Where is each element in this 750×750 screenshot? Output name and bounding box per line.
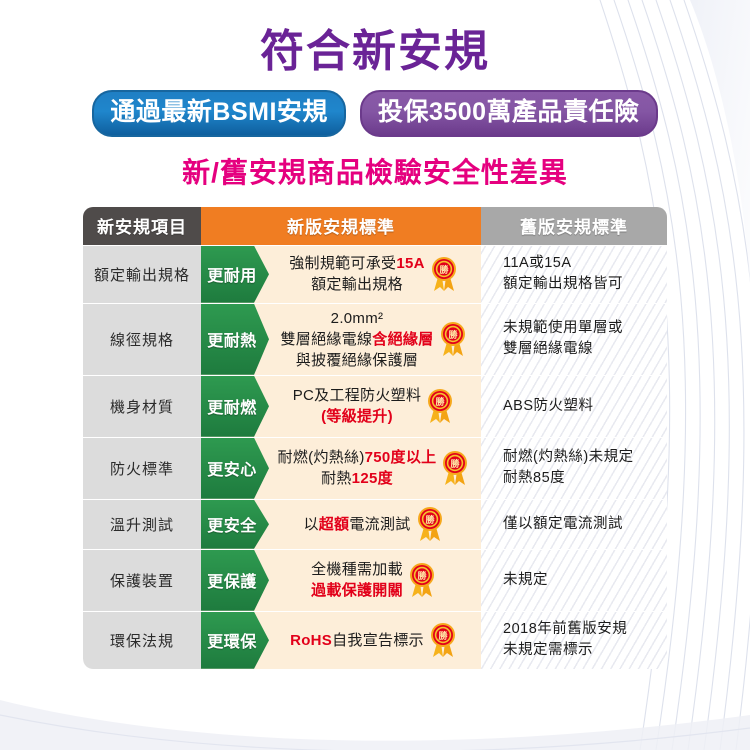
table-row: 溫升測試更安全以超額電流測試 勝 僅以額定電流測試 xyxy=(83,499,667,549)
header-old-standard: 舊版安規標準 xyxy=(481,207,667,245)
row-benefit-tag: 更耐用 xyxy=(201,246,269,303)
row-new-standard: 更安心耐燃(灼熱絲)750度以上耐熱125度 勝 xyxy=(201,438,481,499)
win-rosette-icon: 勝 xyxy=(407,561,437,599)
row-old-standard: 2018年前舊版安規未規定需標示 xyxy=(481,612,667,669)
svg-text:勝: 勝 xyxy=(417,570,427,581)
win-rosette-icon: 勝 xyxy=(429,255,459,293)
win-rosette-icon: 勝 xyxy=(438,320,468,358)
row-old-standard-text: 未規定 xyxy=(503,570,548,591)
table-header-row: 新安規項目 新版安規標準 舊版安規標準 xyxy=(83,207,667,245)
row-old-standard-text: 2018年前舊版安規未規定需標示 xyxy=(503,619,627,661)
row-benefit-tag: 更保護 xyxy=(201,550,269,611)
table-row: 額定輸出規格更耐用強制規範可承受15A額定輸出規格 勝 11A或15A額定輸出規… xyxy=(83,245,667,303)
row-benefit-tag: 更耐燃 xyxy=(201,376,269,437)
row-item-label: 額定輸出規格 xyxy=(83,246,201,303)
row-new-standard-content: 以超額電流測試 勝 xyxy=(269,501,481,547)
svg-text:勝: 勝 xyxy=(439,264,449,275)
row-new-standard-text: RoHS自我宣告標示 xyxy=(290,630,424,651)
row-item-label: 機身材質 xyxy=(83,376,201,437)
row-benefit-tag: 更安心 xyxy=(201,438,269,499)
row-new-standard-content: 2.0mm²雙層絕緣電線含絕緣層與披覆絕緣保護層 勝 xyxy=(269,304,481,375)
row-benefit-tag: 更安全 xyxy=(201,500,269,549)
table-body: 額定輸出規格更耐用強制規範可承受15A額定輸出規格 勝 11A或15A額定輸出規… xyxy=(83,245,667,669)
row-benefit-tag: 更環保 xyxy=(201,612,269,669)
header-item: 新安規項目 xyxy=(83,207,201,245)
row-item-label: 保護裝置 xyxy=(83,550,201,611)
table-row: 防火標準更安心耐燃(灼熱絲)750度以上耐熱125度 勝 耐燃(灼熱絲)未規定耐… xyxy=(83,437,667,499)
row-old-standard-text: 耐燃(灼熱絲)未規定耐熱85度 xyxy=(503,447,634,489)
row-old-standard-text: ABS防火塑料 xyxy=(503,396,594,417)
row-new-standard-content: 全機種需加載過載保護開關 勝 xyxy=(269,555,481,605)
row-new-standard: 更安全以超額電流測試 勝 xyxy=(201,500,481,549)
row-old-standard: ABS防火塑料 xyxy=(481,376,667,437)
row-new-standard-text: 2.0mm²雙層絕緣電線含絕緣層與披覆絕緣保護層 xyxy=(280,308,433,371)
row-new-standard: 更耐熱2.0mm²雙層絕緣電線含絕緣層與披覆絕緣保護層 勝 xyxy=(201,304,481,375)
page-subtitle: 新/舊安規商品檢驗安全性差異 xyxy=(0,151,750,191)
hero-section: 符合新安規 通過最新BSMI安規 投保3500萬產品責任險 新/舊安規商品檢驗安… xyxy=(0,0,750,191)
page-root: 符合新安規 通過最新BSMI安規 投保3500萬產品責任險 新/舊安規商品檢驗安… xyxy=(0,0,750,750)
row-new-standard-text: 耐燃(灼熱絲)750度以上耐熱125度 xyxy=(278,447,437,489)
row-new-standard-content: RoHS自我宣告標示 勝 xyxy=(269,617,481,663)
svg-text:勝: 勝 xyxy=(436,396,446,407)
row-old-standard: 未規定 xyxy=(481,550,667,611)
header-new-standard: 新版安規標準 xyxy=(201,207,481,245)
win-rosette-icon: 勝 xyxy=(425,387,455,425)
row-new-standard-text: PC及工程防火塑料(等級提升) xyxy=(293,385,422,427)
table-row: 線徑規格更耐熱2.0mm²雙層絕緣電線含絕緣層與披覆絕緣保護層 勝 未規範使用單… xyxy=(83,303,667,375)
row-item-label: 線徑規格 xyxy=(83,304,201,375)
table-row: 機身材質更耐燃PC及工程防火塑料(等級提升) 勝 ABS防火塑料 xyxy=(83,375,667,437)
row-new-standard-content: 強制規範可承受15A額定輸出規格 勝 xyxy=(269,249,481,299)
svg-text:勝: 勝 xyxy=(425,514,435,525)
row-new-standard: 更耐燃PC及工程防火塑料(等級提升) 勝 xyxy=(201,376,481,437)
svg-text:勝: 勝 xyxy=(438,630,448,641)
row-old-standard: 未規範使用單層或雙層絕緣電線 xyxy=(481,304,667,375)
row-old-standard-text: 未規範使用單層或雙層絕緣電線 xyxy=(503,318,623,360)
win-rosette-icon: 勝 xyxy=(440,449,470,487)
row-old-standard-text: 僅以額定電流測試 xyxy=(503,514,623,535)
pill-insurance: 投保3500萬產品責任險 xyxy=(360,90,658,137)
svg-text:勝: 勝 xyxy=(451,458,461,469)
row-new-standard-text: 強制規範可承受15A額定輸出規格 xyxy=(289,253,425,295)
row-old-standard: 耐燃(灼熱絲)未規定耐熱85度 xyxy=(481,438,667,499)
row-new-standard-text: 以超額電流測試 xyxy=(303,514,410,535)
row-new-standard: 更耐用強制規範可承受15A額定輸出規格 勝 xyxy=(201,246,481,303)
row-old-standard: 11A或15A額定輸出規格皆可 xyxy=(481,246,667,303)
row-new-standard: 更環保RoHS自我宣告標示 勝 xyxy=(201,612,481,669)
win-rosette-icon: 勝 xyxy=(428,621,458,659)
table-row: 環保法規更環保RoHS自我宣告標示 勝 2018年前舊版安規未規定需標示 xyxy=(83,611,667,669)
row-item-label: 環保法規 xyxy=(83,612,201,669)
row-new-standard-content: PC及工程防火塑料(等級提升) 勝 xyxy=(269,381,481,431)
row-new-standard-content: 耐燃(灼熱絲)750度以上耐熱125度 勝 xyxy=(269,443,481,493)
row-new-standard: 更保護全機種需加載過載保護開關 勝 xyxy=(201,550,481,611)
page-title: 符合新安規 xyxy=(0,30,750,74)
certification-pills: 通過最新BSMI安規 投保3500萬產品責任險 xyxy=(0,90,750,137)
row-old-standard: 僅以額定電流測試 xyxy=(481,500,667,549)
svg-text:勝: 勝 xyxy=(448,329,458,340)
win-rosette-icon: 勝 xyxy=(415,505,445,543)
table-row: 保護裝置更保護全機種需加載過載保護開關 勝 未規定 xyxy=(83,549,667,611)
row-item-label: 溫升測試 xyxy=(83,500,201,549)
row-benefit-tag: 更耐熱 xyxy=(201,304,269,375)
row-item-label: 防火標準 xyxy=(83,438,201,499)
comparison-table: 新安規項目 新版安規標準 舊版安規標準 額定輸出規格更耐用強制規範可承受15A額… xyxy=(83,207,667,669)
row-old-standard-text: 11A或15A額定輸出規格皆可 xyxy=(503,253,623,295)
row-new-standard-text: 全機種需加載過載保護開關 xyxy=(311,559,403,601)
pill-bsmi: 通過最新BSMI安規 xyxy=(92,90,346,137)
